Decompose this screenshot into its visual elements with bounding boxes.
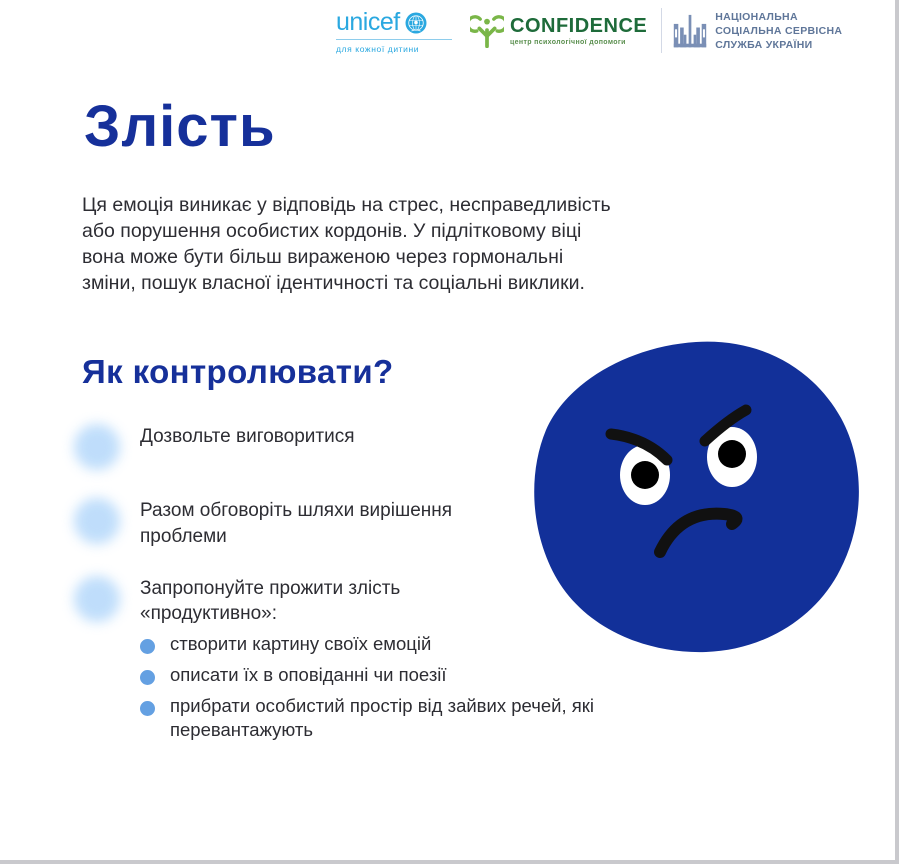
nssu-line-2: СОЦІАЛЬНА СЕРВІСНА xyxy=(715,25,842,39)
round-bullet-icon xyxy=(140,701,155,716)
list-item: Разом обговоріть шляхи вирішення проблем… xyxy=(72,490,532,550)
intro-paragraph: Ця емоція виникає у відповідь на стрес, … xyxy=(82,193,622,297)
angry-face-illustration xyxy=(528,338,864,654)
confidence-tree-icon xyxy=(470,14,504,48)
nssu-trident-emblem-icon xyxy=(672,13,708,51)
right-pupil xyxy=(718,440,746,468)
list-item: прибрати особистий простір від зайвих ре… xyxy=(138,694,608,742)
list-item: Запропонуйте прожити злість «продуктивно… xyxy=(72,568,532,628)
confidence-logo: CONFIDENCE центр психологічної допомоги xyxy=(470,8,647,48)
advice-list: Дозвольте виговоритися Разом обговоріть … xyxy=(72,416,532,645)
logo-bar: unicef для кожної дитини xyxy=(336,8,876,70)
unicef-logo: unicef для кожної дитини xyxy=(336,8,456,54)
soft-bullet-icon xyxy=(74,498,120,544)
angry-face-svg xyxy=(528,338,864,654)
soft-bullet-icon xyxy=(74,424,120,470)
left-pupil xyxy=(631,461,659,489)
soft-bullet-icon xyxy=(74,576,120,622)
list-item-label: Дозвольте виговоритися xyxy=(140,416,532,450)
list-item-label: Разом обговоріть шляхи вирішення проблем… xyxy=(140,490,532,550)
list-item-label: описати їх в оповіданні чи поезії xyxy=(170,663,608,687)
list-item: описати їх в оповіданні чи поезії xyxy=(138,663,608,687)
unicef-divider xyxy=(336,39,452,40)
page-title: Злість xyxy=(84,98,276,156)
confidence-wordmark: CONFIDENCE xyxy=(510,16,647,36)
slide-canvas: unicef для кожної дитини xyxy=(0,0,899,864)
confidence-text-block: CONFIDENCE центр психологічної допомоги xyxy=(510,16,647,46)
list-item: Дозвольте виговоритися xyxy=(72,416,532,472)
unicef-wordmark: unicef xyxy=(336,10,400,35)
round-bullet-icon xyxy=(140,639,155,654)
round-bullet-icon xyxy=(140,670,155,685)
nssu-logo: НАЦІОНАЛЬНА СОЦІАЛЬНА СЕРВІСНА СЛУЖБА УК… xyxy=(661,8,842,53)
unicef-tagline: для кожної дитини xyxy=(336,44,456,54)
face-blob-shape xyxy=(534,342,859,652)
nssu-line-3: СЛУЖБА УКРАЇНИ xyxy=(715,39,842,53)
nssu-text-block: НАЦІОНАЛЬНА СОЦІАЛЬНА СЕРВІСНА СЛУЖБА УК… xyxy=(715,11,842,53)
unicef-globe-icon xyxy=(405,12,427,34)
unicef-logo-top: unicef xyxy=(336,10,456,35)
section-subtitle: Як контролювати? xyxy=(82,355,394,388)
list-item-label: прибрати особистий простір від зайвих ре… xyxy=(170,694,608,742)
confidence-tagline: центр психологічної допомоги xyxy=(510,39,647,46)
list-item-label: Запропонуйте прожити злість «продуктивно… xyxy=(140,568,532,628)
nssu-line-1: НАЦІОНАЛЬНА xyxy=(715,11,842,25)
